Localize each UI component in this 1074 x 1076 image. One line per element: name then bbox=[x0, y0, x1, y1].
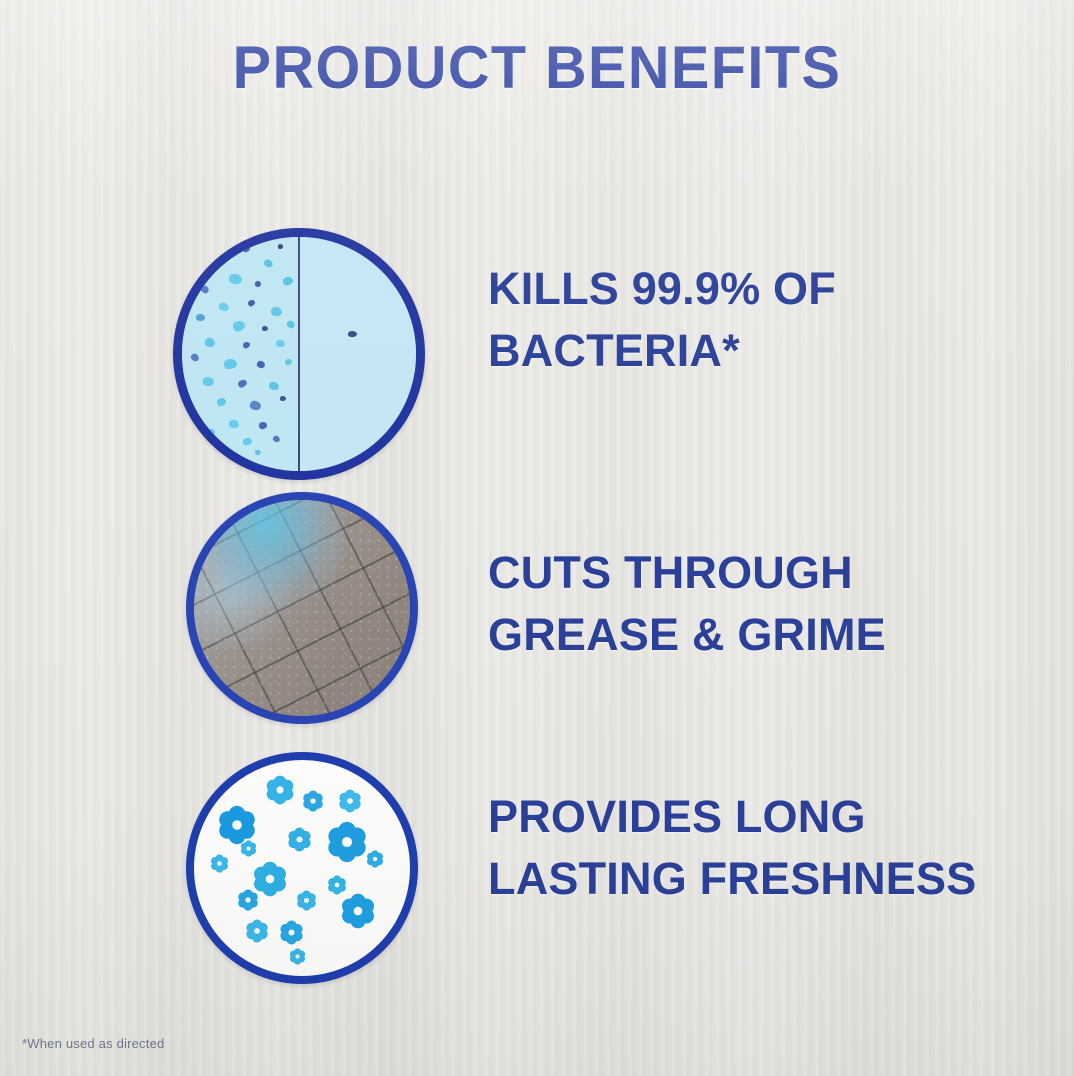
benefit-label-kills-bacteria: KILLS 99.9% OF BACTERIA* bbox=[488, 258, 836, 382]
petri-dish-dirty-half bbox=[182, 237, 299, 471]
product-benefits-graphic: PRODUCT BENEFITS KILLS 99.9% OF BACTERIA… bbox=[0, 0, 1074, 1076]
flower-icon bbox=[217, 805, 257, 845]
flower-icon bbox=[302, 790, 324, 812]
bacteria-colony bbox=[280, 396, 286, 401]
bacteria-colony-stray bbox=[348, 331, 357, 337]
petri-dish-divider bbox=[298, 237, 300, 471]
flower-icon bbox=[296, 890, 317, 911]
blue-flowers-icon bbox=[186, 752, 418, 984]
bacteria-colony bbox=[278, 244, 283, 249]
flower-icon bbox=[237, 889, 259, 911]
flower-icon bbox=[326, 821, 368, 863]
flower-icon bbox=[289, 948, 306, 965]
footnote-disclaimer: *When used as directed bbox=[22, 1036, 164, 1051]
flower-icon bbox=[240, 840, 257, 857]
benefit-label-freshness: PROVIDES LONG LASTING FRESHNESS bbox=[488, 786, 976, 910]
flower-icon bbox=[265, 775, 295, 805]
page-title: PRODUCT BENEFITS bbox=[21, 36, 1052, 99]
petri-dish-clean-half bbox=[299, 237, 416, 471]
flower-icon bbox=[245, 919, 269, 943]
bacteria-colony bbox=[262, 326, 268, 331]
benefit-label-cuts-grease: CUTS THROUGH GREASE & GRIME bbox=[488, 542, 886, 666]
flower-icon bbox=[366, 850, 384, 868]
flower-icon bbox=[340, 893, 376, 929]
flower-icon bbox=[210, 854, 229, 873]
flower-icon bbox=[287, 827, 312, 852]
bacteria-colony bbox=[255, 450, 261, 455]
tile-floor-icon bbox=[186, 492, 418, 724]
flower-icon bbox=[338, 789, 362, 813]
petri-dish-before-after-icon bbox=[173, 228, 425, 480]
flower-icon bbox=[279, 920, 304, 945]
